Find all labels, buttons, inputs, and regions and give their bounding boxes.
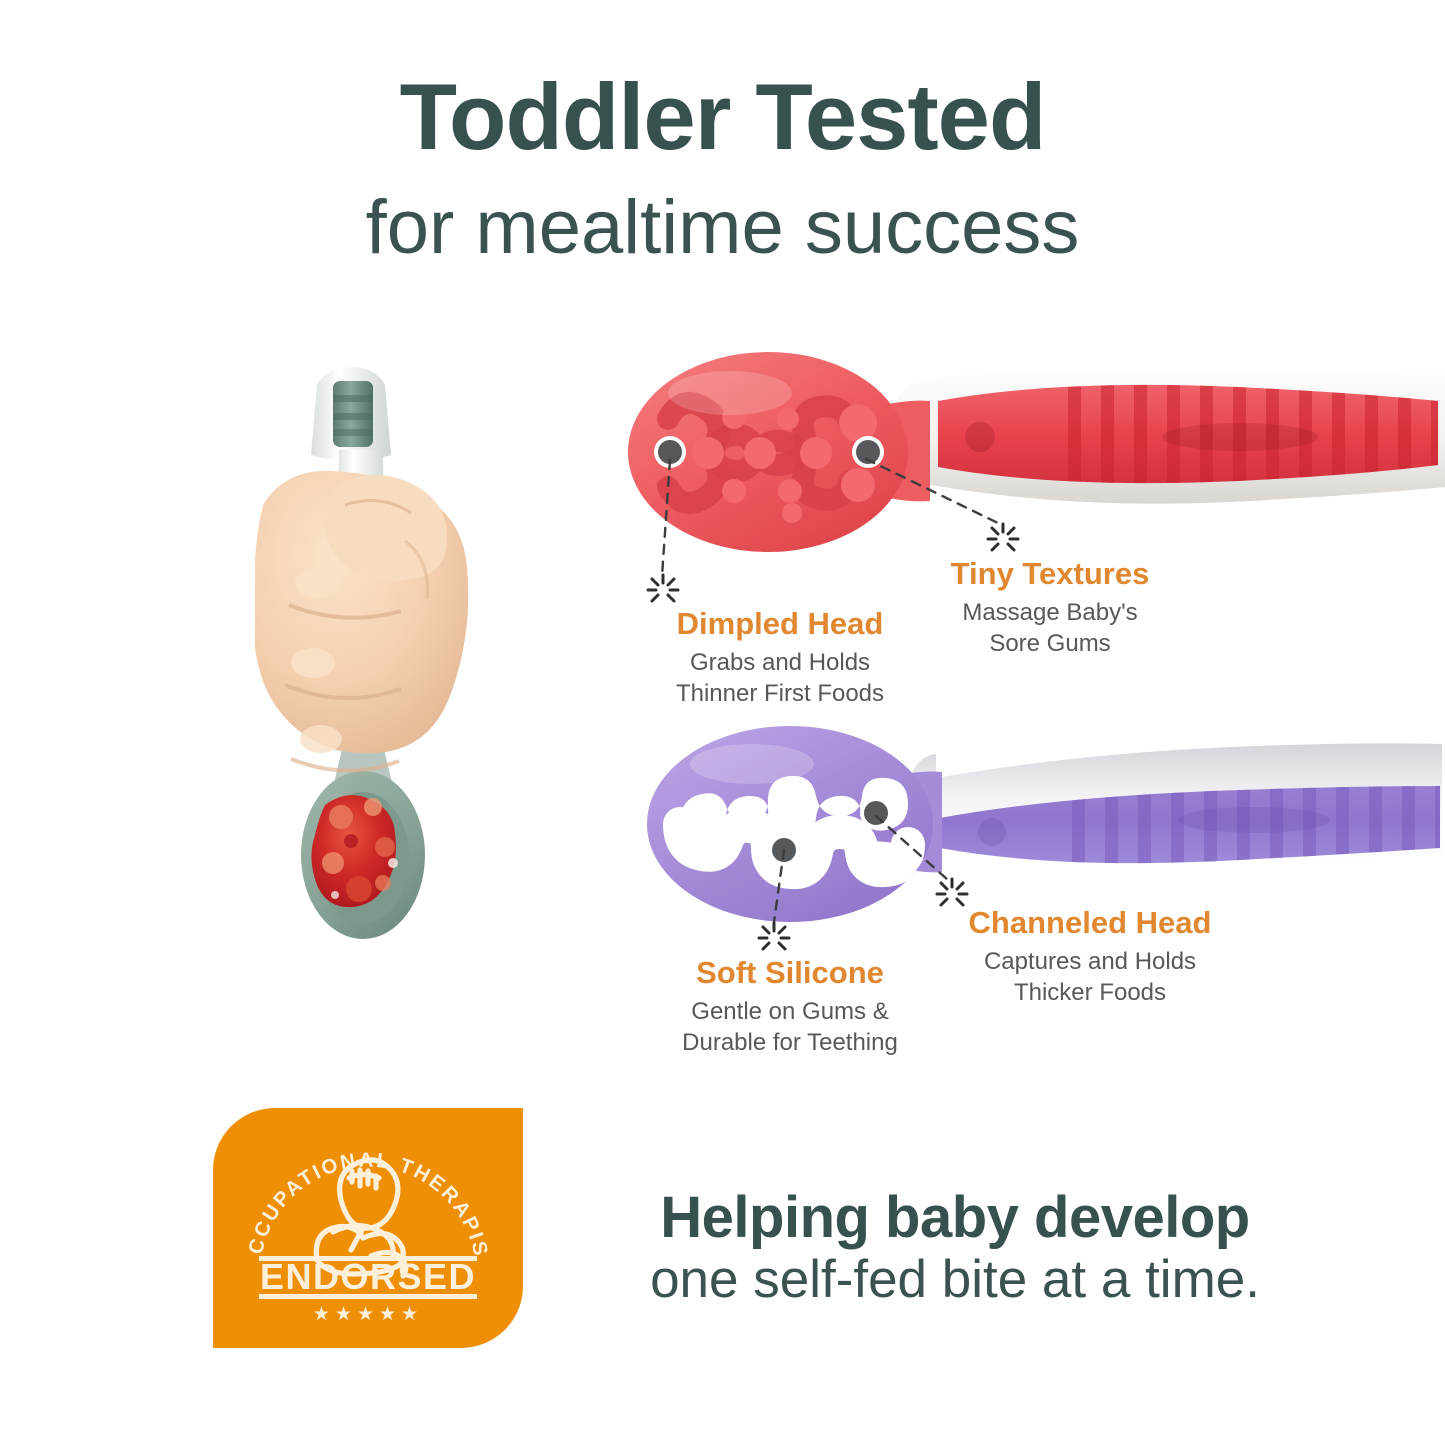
- infographic-canvas: Toddler Tested for mealtime success: [0, 0, 1445, 1445]
- footer-tagline-primary: Helping baby develop: [575, 1188, 1335, 1249]
- page-title: Toddler Tested: [0, 70, 1445, 164]
- callout-description: Captures and Holds Thicker Foods: [910, 946, 1270, 1009]
- callout-title: Channeled Head: [910, 905, 1270, 941]
- callout-title: Tiny Textures: [880, 556, 1220, 592]
- baby-fist: [255, 471, 468, 771]
- red-spoon-product: [620, 345, 1445, 590]
- callout-tiny-textures: Tiny Textures Massage Baby's Sore Gums: [880, 556, 1220, 660]
- red-spoon-illustration: [620, 345, 1445, 590]
- callout-soft-silicone: Soft Silicone Gentle on Gums & Durable f…: [620, 955, 960, 1059]
- callout-dot-channeled-head: [860, 797, 892, 829]
- purple-spoon-head: [647, 726, 933, 922]
- occupational-therapist-badge: OCCUPATIONAL THERAPIST: [213, 1108, 523, 1348]
- spoon-bowl-with-food: [301, 771, 425, 939]
- page-subtitle: for mealtime success: [0, 190, 1445, 266]
- callout-title: Soft Silicone: [620, 955, 960, 991]
- baby-hand-photo: [255, 355, 535, 975]
- callout-dot-soft-silicone: [768, 834, 800, 866]
- callout-channeled-head: Channeled Head Captures and Holds Thicke…: [910, 905, 1270, 1009]
- badge-artwork: OCCUPATIONAL THERAPIST: [213, 1108, 523, 1348]
- callout-description: Gentle on Gums & Durable for Teething: [620, 996, 960, 1059]
- footer-tagline-secondary: one self-fed bite at a time.: [575, 1252, 1335, 1308]
- mashed-fruit-food: [311, 795, 398, 907]
- brand-wordmark: [1178, 807, 1330, 833]
- callout-description: Massage Baby's Sore Gums: [880, 597, 1220, 660]
- spoon-handle-top: [311, 367, 391, 461]
- badge-stars: ★★★★★: [313, 1303, 423, 1325]
- brand-wordmark: [1162, 423, 1318, 451]
- badge-endorsed-label: ENDORSED: [260, 1256, 476, 1297]
- baby-hand-illustration: [255, 355, 535, 975]
- brand-emblem: [965, 422, 995, 452]
- callout-dot-tiny-textures: [852, 436, 884, 468]
- callout-dot-dimpled-head: [654, 436, 686, 468]
- brand-emblem: [978, 818, 1006, 846]
